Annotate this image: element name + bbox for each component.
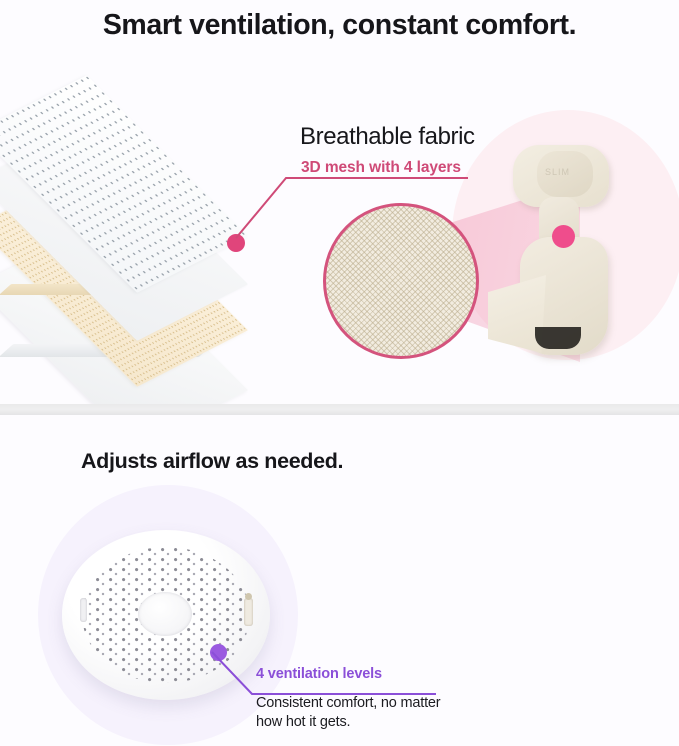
- fan-disc-clip-left: [80, 598, 87, 622]
- exploded-fabric-layers: [0, 72, 288, 372]
- ventilation-fan-disc: [62, 530, 270, 700]
- product-marker-dot: [552, 225, 575, 248]
- purple-marker-dot: [210, 644, 227, 661]
- product-image: SLIM: [495, 145, 627, 360]
- pink-marker-dot: [227, 234, 245, 252]
- callout-title-breathable-fabric: Breathable fabric: [300, 123, 475, 151]
- callout-body-comfort: Consistent comfort, no matter how hot it…: [256, 694, 456, 732]
- magnifier-circle: [323, 203, 479, 359]
- section-title-airflow: Adjusts airflow as needed.: [81, 449, 343, 474]
- fan-disc-clip-right: [244, 598, 253, 626]
- product-base-shadow: [535, 327, 581, 349]
- callout-subtitle-3d-mesh: 3D mesh with 4 layers: [301, 159, 461, 177]
- product-logo: SLIM: [545, 167, 570, 177]
- fan-disc-center-hub: [138, 592, 192, 636]
- section-breathable-fabric: Smart ventilation, constant comfort. SL: [0, 0, 679, 404]
- callout-title-ventilation-levels: 4 ventilation levels: [256, 666, 382, 682]
- page-title: Smart ventilation, constant comfort.: [0, 0, 679, 48]
- product-feature-page: Smart ventilation, constant comfort. SL: [0, 0, 679, 746]
- section-divider: [0, 404, 679, 415]
